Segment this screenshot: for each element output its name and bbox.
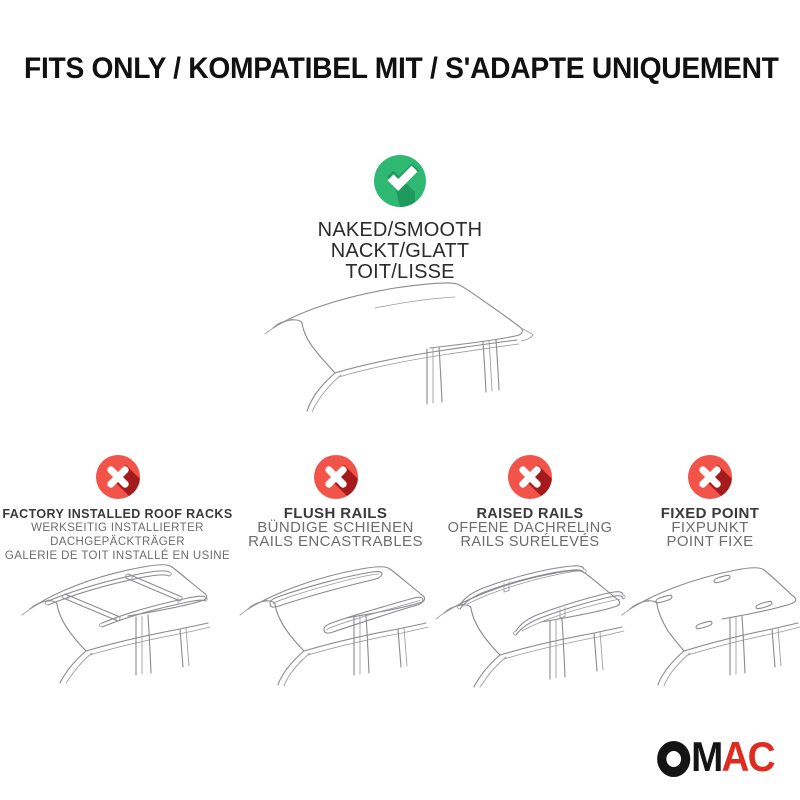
check-circle-icon (374, 155, 426, 207)
page-title: FITS ONLY / KOMPATIBEL MIT / S'ADAPTE UN… (24, 52, 776, 86)
approved-labels: NAKED/SMOOTH NACKT/GLATT TOIT/LISSE (0, 220, 800, 283)
rejected-badge-wrap-raised (508, 455, 552, 499)
fitment-option-flush-rails: FLUSH RAILS BÜNDIGE SCHIENEN RAILS ENCAS… (228, 455, 443, 549)
x-glyph (688, 455, 732, 499)
x-circle-icon (688, 455, 732, 499)
logo-o-icon (657, 741, 690, 777)
approved-label-de: NACKT/GLATT (0, 241, 800, 262)
approved-fitment-group: NAKED/SMOOTH NACKT/GLATT TOIT/LISSE (0, 155, 800, 283)
car-roof-flush-rails-illustration (226, 547, 446, 687)
car-roof-factory-racks-illustration (8, 543, 228, 683)
rejected-fitment-row: FACTORY INSTALLED ROOF RACKS WERKSEITIG … (0, 455, 800, 755)
fitment-option-fixed-point: FIXED POINT FIXPUNKT POINT FIXE (620, 455, 800, 549)
label-en: FACTORY INSTALLED ROOF RACKS (0, 507, 235, 521)
check-glyph (374, 155, 426, 207)
rejected-badge-wrap-flush (314, 455, 358, 499)
fitment-option-raised-rails: RAISED RAILS OFFENE DACHRELING RAILS SUR… (425, 455, 635, 549)
x-glyph (314, 455, 358, 499)
x-circle-icon (508, 455, 552, 499)
fitment-option-factory-roof-racks: FACTORY INSTALLED ROOF RACKS WERKSEITIG … (0, 455, 235, 563)
approved-label-en: NAKED/SMOOTH (0, 220, 800, 241)
x-glyph (508, 455, 552, 499)
labels-fixed-point: FIXED POINT FIXPUNKT POINT FIXE (620, 507, 800, 549)
car-roof-fixed-point-illustration (610, 547, 800, 687)
labels-raised-rails: RAISED RAILS OFFENE DACHRELING RAILS SUR… (425, 507, 635, 549)
car-roof-naked-smooth-illustration (255, 278, 575, 413)
approved-badge-wrap (374, 155, 426, 207)
x-circle-icon (314, 455, 358, 499)
logo-text-red: AC (722, 736, 774, 778)
logo-text-dark: M (692, 736, 722, 778)
rejected-badge-wrap-factory (96, 455, 140, 499)
label-en: RAISED RAILS (425, 507, 635, 521)
labels-flush-rails: FLUSH RAILS BÜNDIGE SCHIENEN RAILS ENCAS… (228, 507, 443, 549)
car-roof-raised-rails-illustration (420, 547, 640, 687)
label-de-line1: WERKSEITIG INSTALLIERTER (0, 521, 235, 535)
rejected-badge-wrap-fixed (688, 455, 732, 499)
x-circle-icon (96, 455, 140, 499)
x-glyph (96, 455, 140, 499)
omac-logo: MAC (657, 736, 774, 778)
label-de: OFFENE DACHRELING (425, 521, 635, 535)
